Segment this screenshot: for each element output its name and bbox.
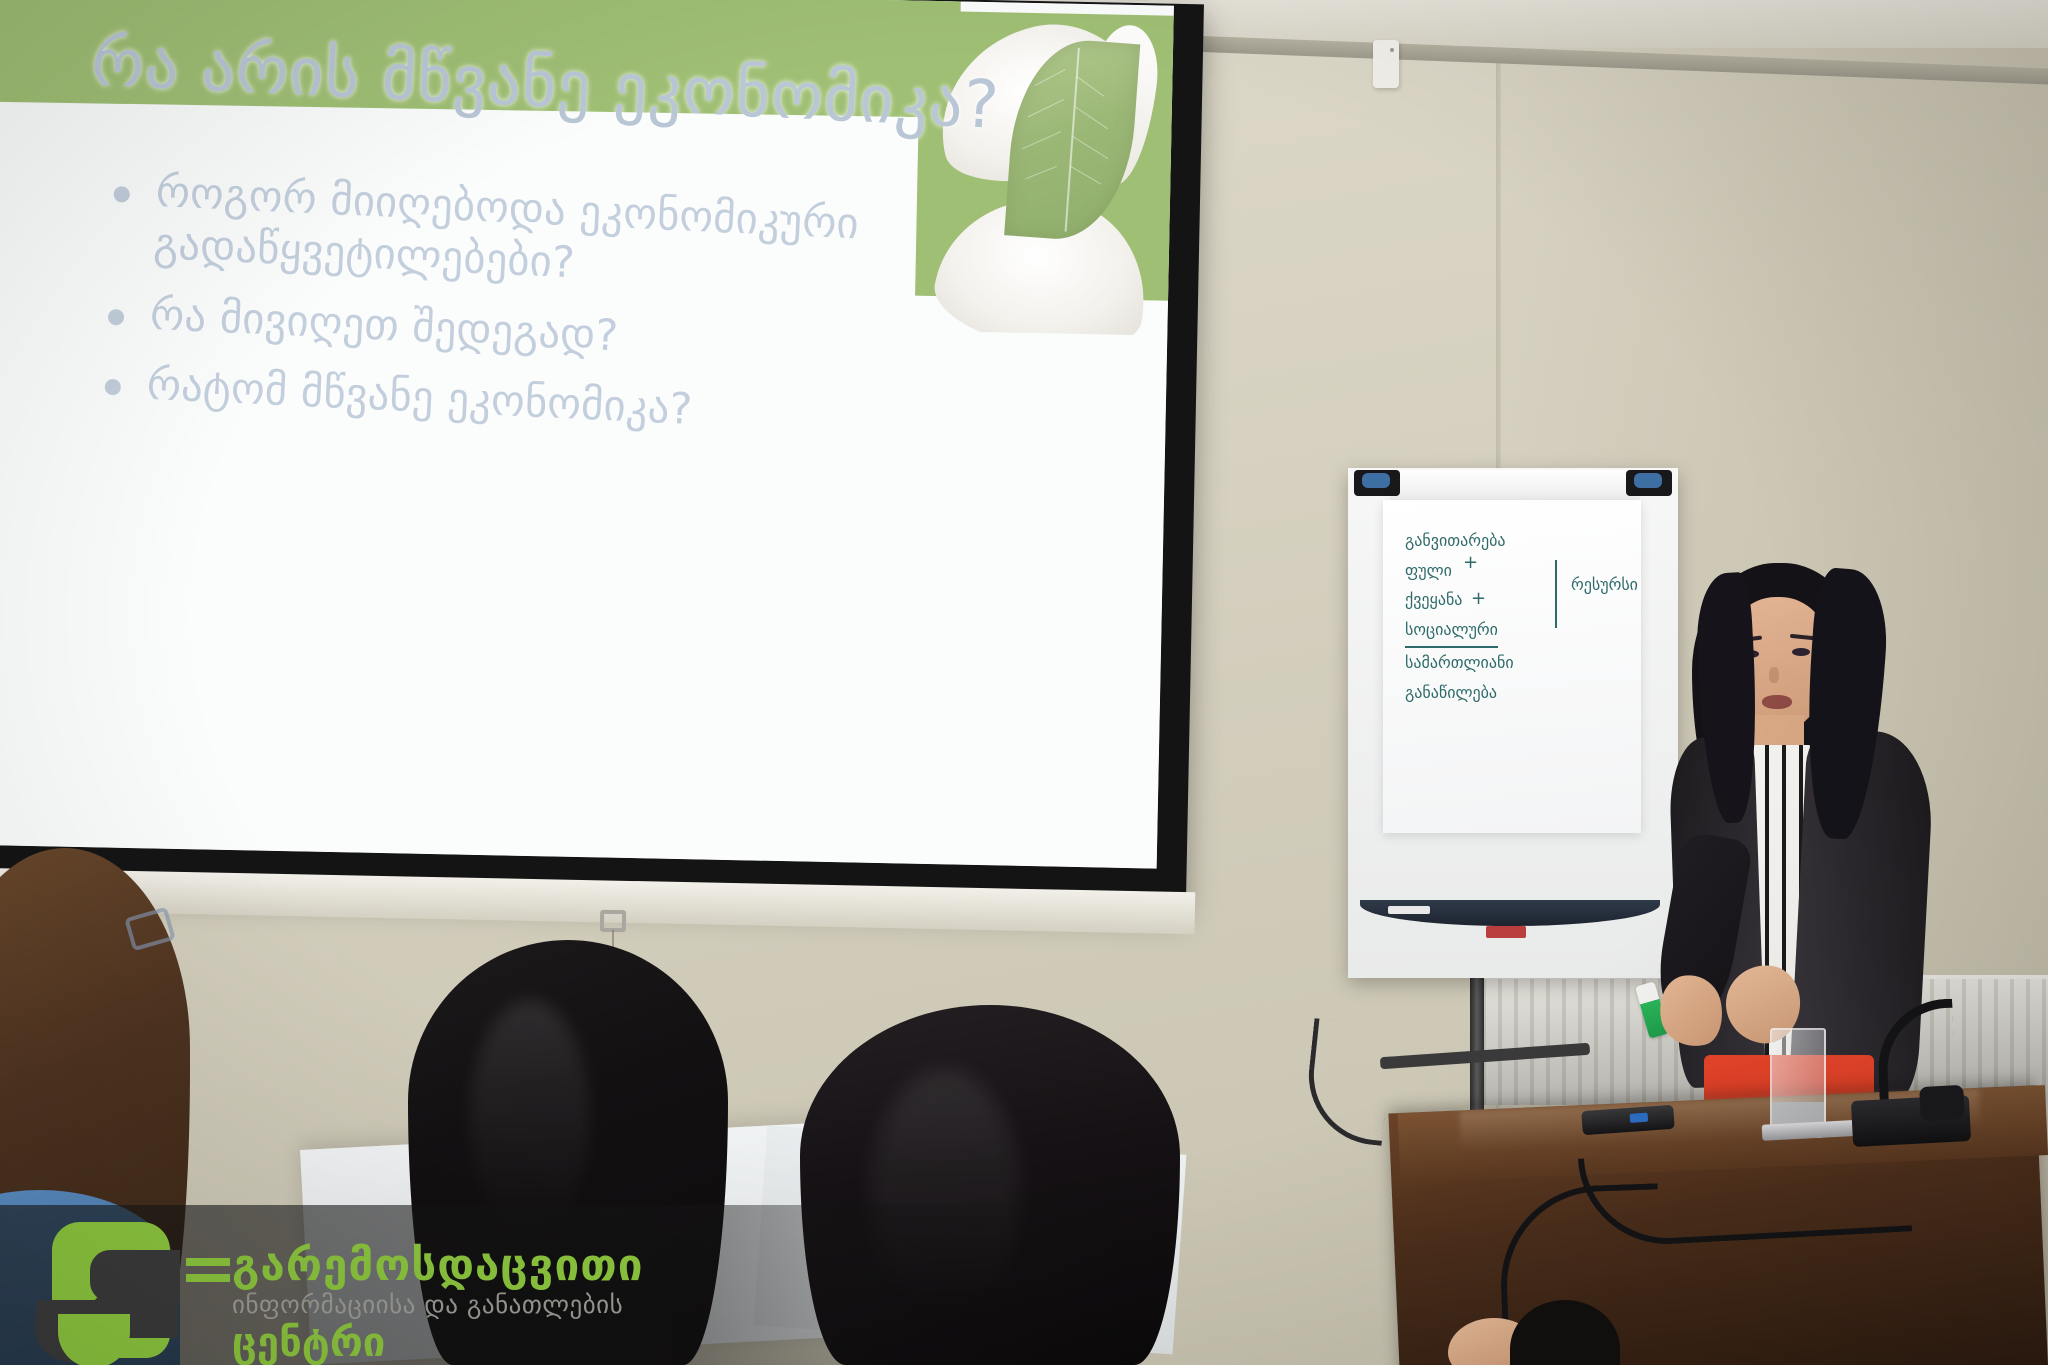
list-item: როგორ მიიღებოდა ეკონომიკური გადაწყვეტილე… xyxy=(110,164,924,306)
flipchart-handwriting: განვითარება + ფული + ქვეყანა სოციალური ს… xyxy=(1405,526,1627,708)
smoke-detector-icon xyxy=(1373,40,1399,88)
flipchart-line: სამართლიანი xyxy=(1405,648,1627,678)
microphone-knob[interactable] xyxy=(1919,1085,1965,1121)
flipchart-side-note: რესურსი xyxy=(1571,570,1638,600)
conference-room-photo: რა არის მწვანე ეკონომიკა? როგორ მიიღებოდ… xyxy=(0,0,2048,1365)
flipchart-brand-badge xyxy=(1486,926,1526,938)
bullet-dot-icon xyxy=(104,379,121,396)
presentation-slide: რა არის მწვანე ეკონომიკა? როგორ მიიღებოდ… xyxy=(0,0,1174,869)
bullet-text: რატომ მწვანე ეკონომიკა? xyxy=(146,359,694,437)
logo-line-1: გარემოსდაცვითი xyxy=(232,1240,644,1291)
bullet-text: როგორ მიიღებოდა ეკონომიკური გადაწყვეტილე… xyxy=(152,166,860,303)
logo-mark-icon xyxy=(34,1218,182,1358)
screen-hook-icon xyxy=(600,910,626,932)
hair-highlight-center xyxy=(470,1000,590,1240)
flipchart-line: განაწილება xyxy=(1405,678,1627,708)
flipchart-clip-left xyxy=(1354,470,1400,496)
presenter-nose xyxy=(1769,667,1779,683)
flipchart-line-text: სოციალური xyxy=(1405,615,1498,649)
hands-holding-leaf-graphic xyxy=(889,0,1174,336)
whiteboard-marker xyxy=(1388,906,1430,914)
presenter-mouth xyxy=(1762,695,1792,709)
flipchart-paper-sheet: განვითარება + ფული + ქვეყანა სოციალური ს… xyxy=(1383,500,1641,833)
flipchart-clip-right xyxy=(1626,470,1672,496)
slide-bullet-list: როგორ მიიღებოდა ეკონომიკური გადაწყვეტილე… xyxy=(103,164,924,465)
bullet-dot-icon xyxy=(108,309,125,326)
projection-screen: რა არის მწვანე ეკონომიკა? როგორ მიიღებოდ… xyxy=(0,0,1204,909)
screen-surface: რა არის მწვანე ეკონომიკა? როგორ მიიღებოდ… xyxy=(0,0,1174,869)
presenter-eye-right xyxy=(1792,648,1810,656)
logo-dash-accent xyxy=(186,1258,230,1284)
bullet-text: რა მივიღეთ შედეგად? xyxy=(149,289,619,363)
logo-line-3: ცენტრი xyxy=(232,1320,385,1365)
logo-leaf-shape xyxy=(58,1314,130,1365)
organization-logo: გარემოსდაცვითი ინფორმაციისა და განათლები… xyxy=(26,1212,706,1362)
flipchart-clamp xyxy=(1348,468,1678,502)
flipchart-line-underlined: სოციალური xyxy=(1405,615,1627,649)
logo-notch xyxy=(90,1250,180,1302)
flipchart-divider xyxy=(1555,560,1557,628)
logo-line-2: ინფორმაციისა და განათლების xyxy=(232,1290,623,1319)
bullet-dot-icon xyxy=(113,186,130,203)
flipchart-line: განვითარება xyxy=(1405,526,1627,556)
